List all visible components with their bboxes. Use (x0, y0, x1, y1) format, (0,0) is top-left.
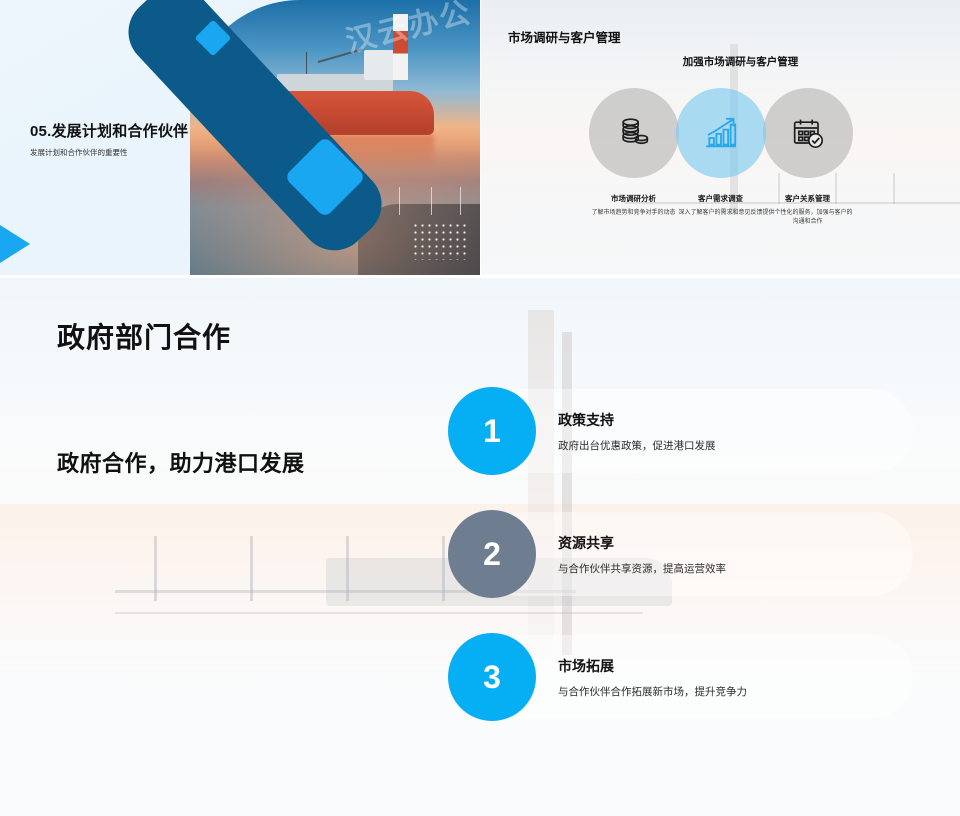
feature-column[interactable]: 市场调研分析 了解市场趋势和竞争对手的动态 (587, 88, 680, 228)
list-item[interactable]: 1 政策支持 政府出台优惠政策，促进港口发展 (448, 383, 913, 479)
feature-circle (676, 88, 766, 178)
list-item-title: 政策支持 (558, 410, 716, 430)
feature-column[interactable]: 客户需求调查 深入了解客户的需求和意见反馈 (674, 88, 767, 228)
slide-government-cooperation: 政府部门合作 政府合作，助力港口发展 1 政策支持 政府出台优惠政策，促进港口发… (0, 278, 960, 816)
list-item-description: 与合作伙伴共享资源，提高运营效率 (558, 561, 726, 576)
list-item-title: 资源共享 (558, 533, 726, 553)
slide1-subtitle: 发展计划和合作伙伴的重要性 (30, 147, 260, 158)
list-item[interactable]: 3 市场拓展 与合作伙伴合作拓展新市场，提升竞争力 (448, 629, 913, 725)
feature-circle (763, 88, 853, 178)
list-item-number: 2 (448, 510, 536, 598)
list-item-text: 资源共享 与合作伙伴共享资源，提高运营效率 (558, 533, 726, 576)
dock-lamp-icon (399, 187, 400, 215)
list-item-number: 1 (448, 387, 536, 475)
dock-lamp-icon (431, 187, 432, 215)
list-item-title: 市场拓展 (558, 656, 747, 676)
arrow-triangle-icon (0, 225, 30, 263)
slide3-lead-text: 政府合作，助力港口发展 (57, 446, 305, 478)
cooperation-list: 1 政策支持 政府出台优惠政策，促进港口发展 2 资源共享 与合作伙伴共享资源，… (448, 383, 913, 752)
list-item-description: 与合作伙伴合作拓展新市场，提升竞争力 (558, 684, 747, 699)
bar-chart-growth-icon (701, 113, 741, 153)
list-item-text: 市场拓展 与合作伙伴合作拓展新市场，提升竞争力 (558, 656, 747, 699)
list-item-text: 政策支持 政府出台优惠政策，促进港口发展 (558, 410, 716, 453)
list-item[interactable]: 2 资源共享 与合作伙伴共享资源，提高运营效率 (448, 506, 913, 602)
feature-description: 提供个性化的服务，加强与客户的沟通和合作 (762, 209, 854, 228)
list-item-number: 3 (448, 633, 536, 721)
watermark-text: 汉云办公 (341, 0, 476, 61)
background-pylon (346, 536, 349, 601)
slide-deck: 汉云办公 05.发展计划和合作伙伴 发展计划和合作伙伴的重要性 市场调研与客户管… (0, 0, 960, 816)
feature-caption: 客户关系管理 (785, 193, 830, 204)
feature-caption: 市场调研分析 (611, 193, 656, 204)
calendar-check-icon (788, 113, 828, 153)
background-pylon (154, 536, 157, 601)
dock-lamp-icon (460, 187, 461, 215)
slide1-title: 05.发展计划和合作伙伴 (30, 120, 260, 141)
slide2-subtitle: 加强市场调研与客户管理 (481, 54, 960, 69)
feature-description: 深入了解客户的需求和意见反馈 (675, 209, 767, 218)
slide2-title: 市场调研与客户管理 (508, 27, 621, 46)
slide-development-plan: 汉云办公 05.发展计划和合作伙伴 发展计划和合作伙伴的重要性 (0, 0, 480, 275)
feature-column[interactable]: 客户关系管理 提供个性化的服务，加强与客户的沟通和合作 (761, 88, 854, 228)
feature-circle (589, 88, 679, 178)
feature-caption: 客户需求调查 (698, 193, 743, 204)
feature-circles-row: 市场调研分析 了解市场趋势和竞争对手的动态 (509, 88, 932, 228)
background-pylon (442, 536, 445, 601)
slide1-text-block: 05.发展计划和合作伙伴 发展计划和合作伙伴的重要性 (30, 120, 260, 158)
slide-market-research: 市场调研与客户管理 加强市场调研与客户管理 (481, 0, 960, 275)
background-pylon (250, 536, 253, 601)
list-item-description: 政府出台优惠政策，促进港口发展 (558, 438, 716, 453)
slide3-title: 政府部门合作 (57, 316, 231, 356)
coins-stack-icon (614, 113, 654, 153)
dot-grid-pattern (412, 222, 466, 260)
feature-description: 了解市场趋势和竞争对手的动态 (588, 209, 680, 218)
